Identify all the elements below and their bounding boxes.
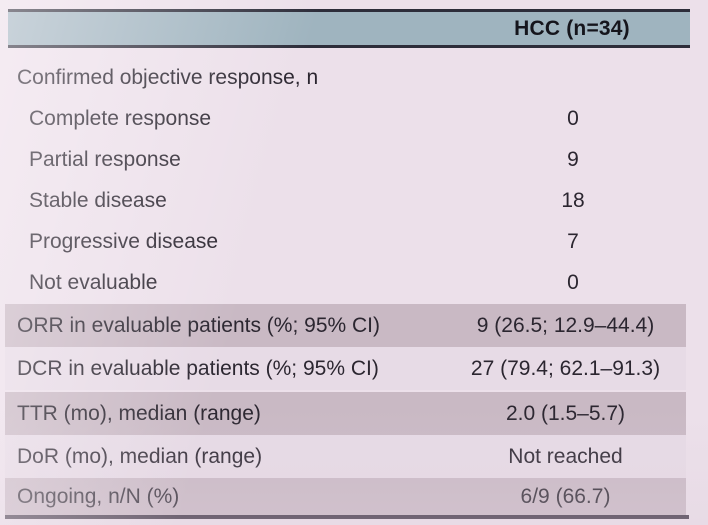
table-row-dcr: DCR in evaluable patients (%; 95% CI) 27…: [5, 347, 686, 390]
table-row-complete-response: Complete response 0: [0, 99, 708, 139]
row-label: Partial response: [0, 148, 181, 172]
table-row-not-evaluable: Not evaluable 0: [0, 263, 708, 303]
row-value: 0: [455, 107, 691, 131]
row-label: DCR in evaluable patients (%; 95% CI): [5, 357, 379, 381]
row-value: 27 (79.4; 62.1–91.3): [445, 357, 686, 381]
table-row-stable-disease: Stable disease 18: [0, 181, 708, 221]
row-value: 0: [455, 271, 691, 295]
table-row-ongoing: Ongoing, n/N (%) 6/9 (66.7): [5, 478, 686, 516]
table-row-ttr: TTR (mo), median (range) 2.0 (1.5–5.7): [5, 392, 686, 435]
table-header-row: HCC (n=34): [8, 9, 690, 48]
row-value: 2.0 (1.5–5.7): [445, 402, 686, 426]
row-value: 7: [455, 230, 691, 254]
table-row-orr: ORR in evaluable patients (%; 95% CI) 9 …: [5, 304, 686, 347]
table-row-progressive-disease: Progressive disease 7: [0, 222, 708, 262]
row-label: Not evaluable: [0, 271, 157, 295]
row-label: Ongoing, n/N (%): [5, 485, 179, 509]
row-value: 9: [455, 148, 691, 172]
row-value: Not reached: [445, 445, 686, 469]
row-label: Progressive disease: [0, 230, 218, 254]
row-label: DoR (mo), median (range): [5, 445, 262, 469]
row-label: Stable disease: [0, 189, 167, 213]
table-row-confirmed-objective-response: Confirmed objective response, n: [0, 58, 708, 98]
table-row-dor: DoR (mo), median (range) Not reached: [5, 435, 686, 478]
row-label: Confirmed objective response, n: [0, 66, 318, 90]
row-value: 18: [455, 189, 691, 213]
row-label: ORR in evaluable patients (%; 95% CI): [5, 314, 380, 338]
row-label: Complete response: [0, 107, 211, 131]
results-table: HCC (n=34) Confirmed objective response,…: [0, 0, 708, 525]
row-label: TTR (mo), median (range): [5, 402, 261, 426]
table-row-partial-response: Partial response 9: [0, 140, 708, 180]
column-header-hcc: HCC (n=34): [454, 12, 690, 45]
row-value: 9 (26.5; 12.9–44.4): [445, 314, 686, 338]
row-value: 6/9 (66.7): [445, 485, 686, 509]
table-bottom-rule: [5, 515, 689, 519]
